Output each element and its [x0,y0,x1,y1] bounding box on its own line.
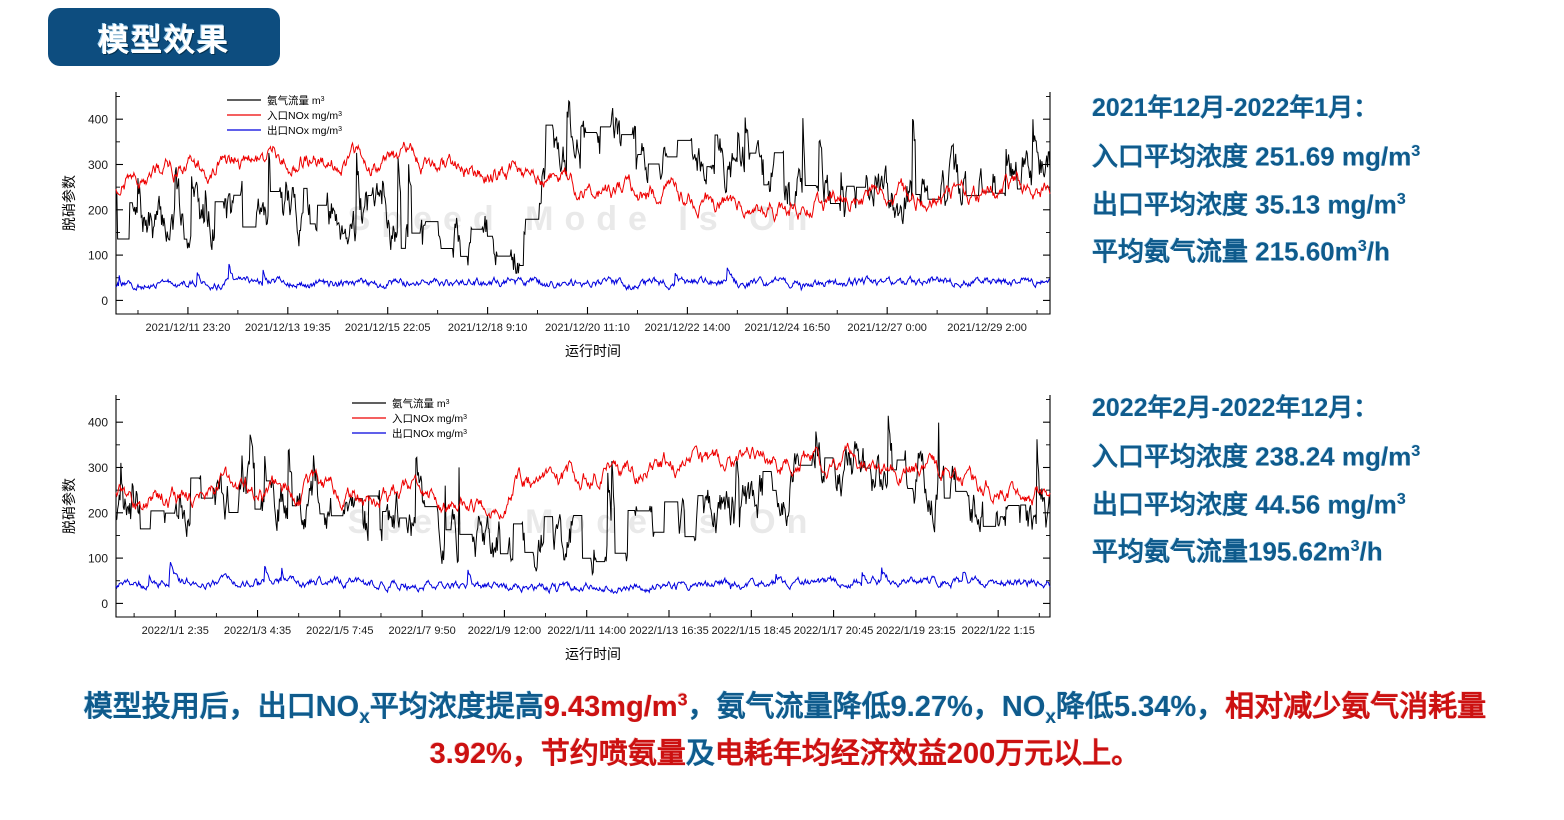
svg-text:2022/1/15 18:45: 2022/1/15 18:45 [712,625,792,637]
svg-text:Speed Mode Is On: Speed Mode Is On [348,503,819,541]
svg-text:200: 200 [88,506,108,520]
stats-period-2: 2022年2月-2022年12月： 入口平均浓度 238.24 mg/m3 出口… [1092,396,1562,565]
stats-1-inlet: 入口平均浓度 251.69 mg/m3 [1092,143,1562,170]
svg-text:2022/1/17 20:45: 2022/1/17 20:45 [794,625,874,637]
stats-2-inlet-label: 入口平均浓度 [1092,442,1255,472]
svg-text:运行时间: 运行时间 [565,646,621,662]
stats-2-heading: 2022年2月-2022年12月： [1092,396,1562,421]
stats-2-outlet-label: 出口平均浓度 [1092,489,1255,519]
conclusion-seg4: ，氨气流量降低9.27%，NO [688,691,1046,723]
conclusion-seg1: 模型投用后，出口NO [84,691,360,723]
conclusion-seg3-sup: 3 [678,689,688,709]
stats-2-flow-unit: m [1328,537,1351,567]
svg-text:2022/1/1 2:35: 2022/1/1 2:35 [142,625,209,637]
svg-text:2021/12/13 19:35: 2021/12/13 19:35 [245,322,331,334]
svg-text:脱硝参数: 脱硝参数 [61,478,77,534]
svg-text:2022/1/19 23:15: 2022/1/19 23:15 [876,625,956,637]
stats-2-flow-value: 195.62 [1248,537,1328,567]
svg-text:氨气流量 m3: 氨气流量 m3 [392,397,450,410]
svg-text:运行时间: 运行时间 [565,343,621,359]
stats-2-flow: 平均氨气流量195.62m3/h [1092,538,1562,565]
page-title: 模型效果 [48,8,280,66]
stats-2-outlet: 出口平均浓度 44.56 mg/m3 [1092,491,1562,518]
svg-text:入口NOx mg/m3: 入口NOx mg/m3 [267,110,342,122]
svg-text:2022/1/7 9:50: 2022/1/7 9:50 [388,625,455,637]
conclusion-seg4-sub: x [1045,707,1056,728]
chart-2-svg: Speed Mode Is On0100200300400脱硝参数2022/1/… [52,385,1062,665]
stats-period-1: 2021年12月-2022年1月： 入口平均浓度 251.69 mg/m3 出口… [1092,96,1562,265]
stats-2-inlet-unit: mg/m [1335,442,1412,472]
stats-1-outlet-label: 出口平均浓度 [1092,189,1255,219]
svg-text:脱硝参数: 脱硝参数 [61,175,77,231]
chart-period-2: Speed Mode Is On0100200300400脱硝参数2022/1/… [52,385,1062,665]
conclusion-seg5: 降低 [1056,691,1114,723]
svg-text:Speed Mode Is On: Speed Mode Is On [348,200,819,238]
chart-period-1: Speed Mode Is On0100200300400脱硝参数2021/12… [52,82,1062,362]
stats-1-flow-unit2: /h [1367,237,1390,267]
svg-text:300: 300 [88,158,108,172]
svg-text:2022/1/13 16:35: 2022/1/13 16:35 [629,625,709,637]
stats-1-inlet-unit: mg/m [1335,142,1412,172]
svg-text:2022/1/9 12:00: 2022/1/9 12:00 [468,625,541,637]
stats-1-outlet-value: 35.13 [1255,189,1320,219]
svg-text:2021/12/11 23:20: 2021/12/11 23:20 [146,322,231,334]
stats-2-inlet-value: 238.24 [1255,442,1335,472]
svg-text:2022/1/11 14:00: 2022/1/11 14:00 [547,625,626,637]
stats-1-heading: 2021年12月-2022年1月： [1092,96,1562,121]
svg-text:2022/1/22 1:15: 2022/1/22 1:15 [961,625,1034,637]
stats-1-inlet-sup: 3 [1411,142,1420,160]
section-header-pill: 模型效果 [48,8,280,66]
svg-text:出口NOx mg/m3: 出口NOx mg/m3 [267,124,342,137]
svg-text:2021/12/29 2:00: 2021/12/29 2:00 [947,322,1027,334]
svg-text:2021/12/20 11:10: 2021/12/20 11:10 [545,322,630,334]
svg-text:200: 200 [88,203,108,217]
svg-text:2022/1/5 7:45: 2022/1/5 7:45 [306,625,373,637]
svg-text:0: 0 [101,597,108,611]
stats-1-flow: 平均氨气流量 215.60m3/h [1092,238,1562,265]
conclusion-seg9: 电耗年均经济效益200万元以上。 [715,738,1140,770]
stats-1-outlet-sup: 3 [1397,190,1406,208]
stats-2-inlet-sup: 3 [1411,442,1420,460]
stats-2-flow-unit2: /h [1360,537,1383,567]
conclusion-seg2: 平均浓度提高 [370,691,544,723]
svg-text:2021/12/18 9:10: 2021/12/18 9:10 [448,322,528,334]
svg-text:2022/1/3 4:35: 2022/1/3 4:35 [224,625,291,637]
conclusion-text: 模型投用后，出口NOx平均浓度提高9.43mg/m3，氨气流量降低9.27%，N… [40,685,1530,777]
svg-text:入口NOx mg/m3: 入口NOx mg/m3 [392,413,467,425]
svg-text:100: 100 [88,552,108,566]
stats-1-flow-value: 215.60 [1255,237,1335,267]
stats-1-flow-sup: 3 [1358,237,1367,255]
conclusion-seg6: 5.34%， [1114,691,1225,723]
conclusion-seg8: 及 [686,738,715,770]
svg-text:2021/12/24 16:50: 2021/12/24 16:50 [744,322,830,334]
stats-1-flow-unit: m [1335,237,1358,267]
stats-2-flow-sup: 3 [1351,537,1360,555]
chart-1-svg: Speed Mode Is On0100200300400脱硝参数2021/12… [52,82,1062,362]
stats-1-outlet: 出口平均浓度 35.13 mg/m3 [1092,191,1562,218]
svg-text:400: 400 [88,113,108,127]
conclusion-seg3: 9.43mg/m [544,691,678,723]
conclusion-seg1-sub: x [359,707,370,728]
svg-text:2021/12/27 0:00: 2021/12/27 0:00 [847,322,927,334]
svg-text:300: 300 [88,461,108,475]
stats-2-flow-label: 平均氨气流量 [1092,537,1248,567]
svg-text:氨气流量 m3: 氨气流量 m3 [267,94,325,107]
svg-text:100: 100 [88,249,108,263]
stats-1-flow-label: 平均氨气流量 [1092,237,1255,267]
svg-text:0: 0 [101,294,108,308]
stats-1-outlet-unit: mg/m [1320,189,1397,219]
svg-text:2021/12/22 14:00: 2021/12/22 14:00 [645,322,731,334]
stats-1-inlet-value: 251.69 [1255,142,1335,172]
stats-2-outlet-value: 44.56 [1255,489,1320,519]
svg-text:400: 400 [88,416,108,430]
stats-1-inlet-label: 入口平均浓度 [1092,142,1255,172]
stats-2-inlet: 入口平均浓度 238.24 mg/m3 [1092,443,1562,470]
stats-2-outlet-sup: 3 [1397,490,1406,508]
svg-text:2021/12/15 22:05: 2021/12/15 22:05 [345,322,431,334]
svg-text:出口NOx mg/m3: 出口NOx mg/m3 [392,427,467,440]
stats-2-outlet-unit: mg/m [1320,489,1397,519]
